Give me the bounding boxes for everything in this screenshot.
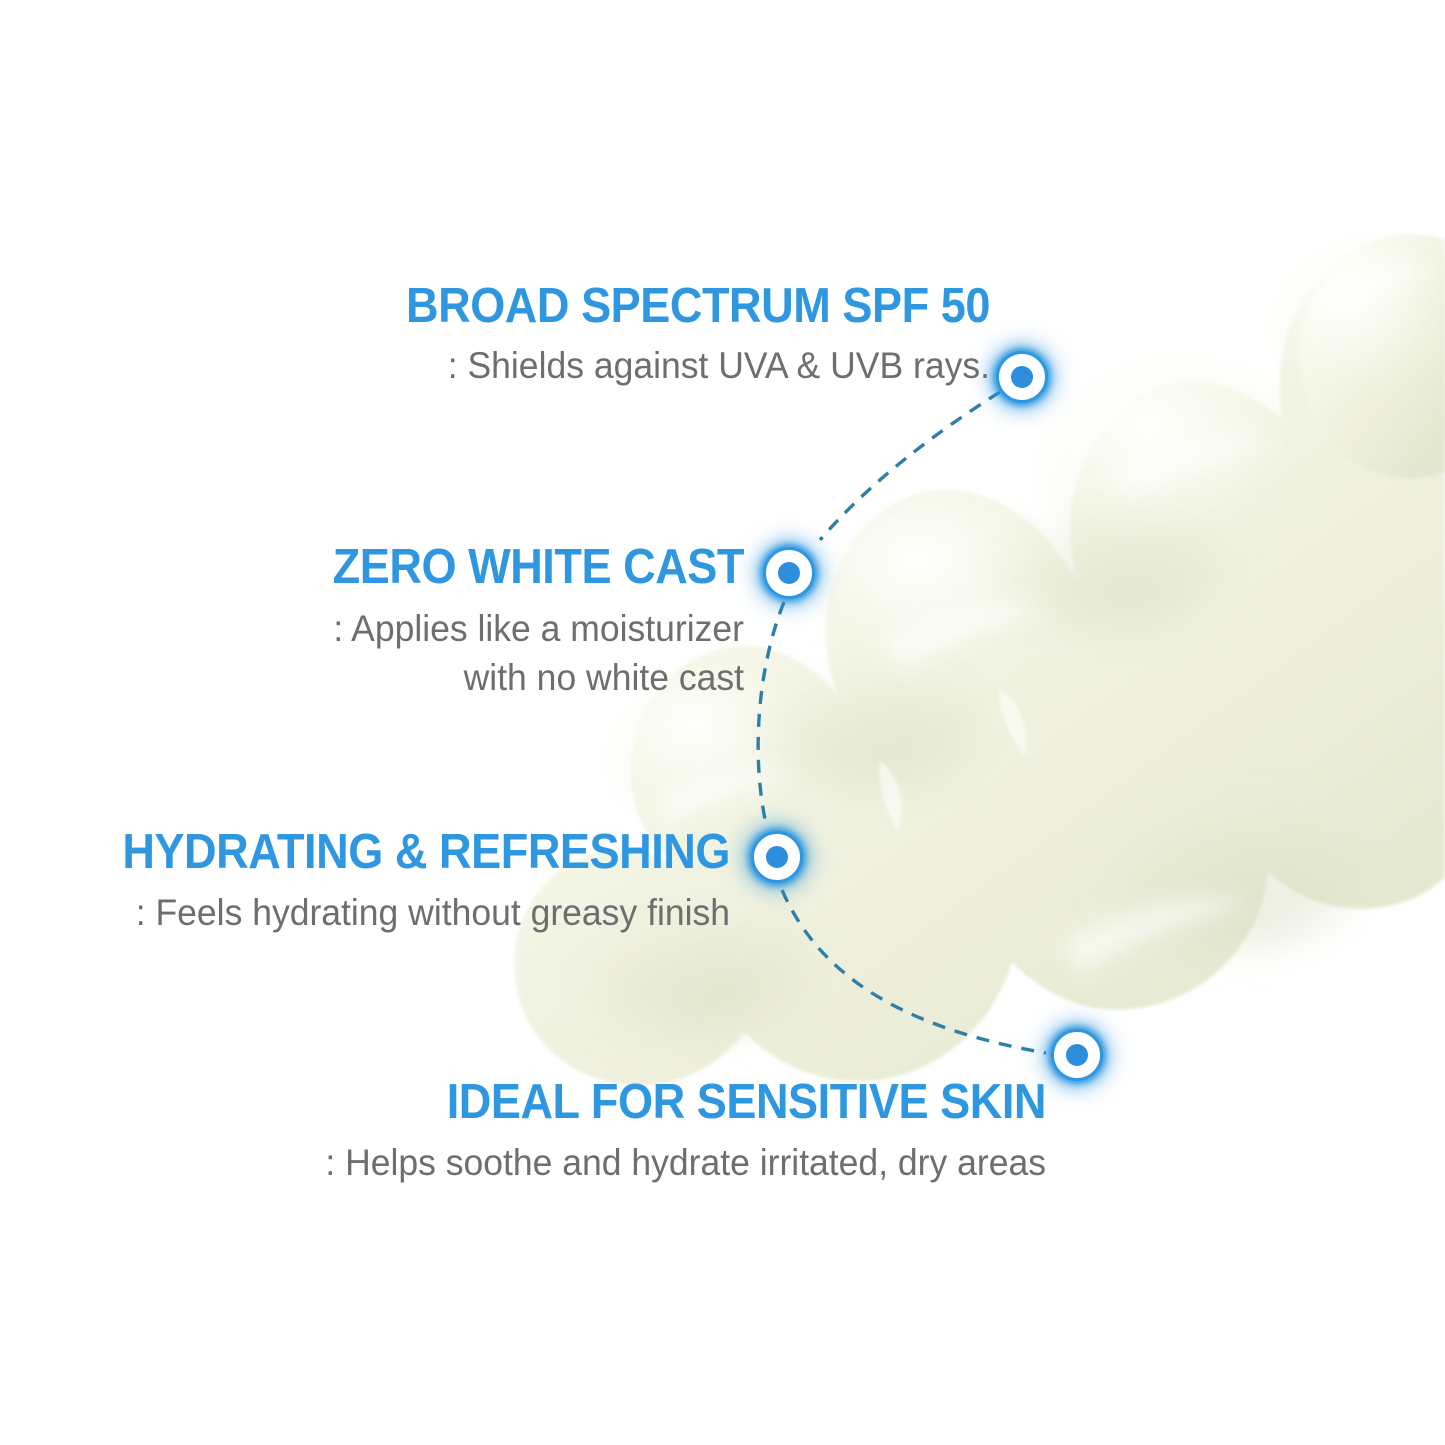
- feature-title-ideal-sensitive-skin: IDEAL FOR SENSITIVE SKIN: [84, 1078, 1046, 1127]
- feature-description-hydrating-refreshing: : Feels hydrating without greasy finish: [29, 889, 730, 936]
- marker-core-icon: [778, 562, 800, 584]
- product-cream-swatch: [0, 0, 1445, 1445]
- marker-core-icon: [766, 846, 788, 868]
- feature-zero-white-cast: ZERO WHITE CAST : Applies like a moistur…: [0, 543, 744, 702]
- feature-title-hydrating-refreshing: HYDRATING & REFRESHING: [58, 828, 730, 877]
- feature-title-zero-white-cast: ZERO WHITE CAST: [60, 543, 744, 592]
- feature-description-broad-spectrum: : Shields against UVA & UVB rays.: [40, 342, 990, 389]
- feature-marker-zero-white-cast: [763, 547, 815, 599]
- feature-description-ideal-sensitive-skin: : Helps soothe and hydrate irritated, dr…: [42, 1139, 1046, 1186]
- feature-title-broad-spectrum: BROAD SPECTRUM SPF 50: [79, 282, 990, 331]
- feature-description-zero-white-cast-line-2: with no white cast: [30, 654, 744, 701]
- dashed-connector-curve: [0, 0, 1445, 1445]
- feature-description-zero-white-cast-line-1: : Applies like a moisturizer: [30, 605, 744, 652]
- feature-broad-spectrum: BROAD SPECTRUM SPF 50 : Shields against …: [0, 282, 990, 389]
- feature-marker-ideal-sensitive-skin: [1051, 1029, 1103, 1081]
- feature-hydrating-refreshing: HYDRATING & REFRESHING : Feels hydrating…: [0, 828, 730, 936]
- marker-core-icon: [1066, 1044, 1088, 1066]
- feature-marker-hydrating-refreshing: [751, 831, 803, 883]
- product-feature-infographic: BROAD SPECTRUM SPF 50 : Shields against …: [0, 0, 1445, 1445]
- feature-ideal-sensitive-skin: IDEAL FOR SENSITIVE SKIN : Helps soothe …: [0, 1078, 1046, 1186]
- feature-marker-broad-spectrum: [996, 351, 1048, 403]
- marker-core-icon: [1011, 366, 1033, 388]
